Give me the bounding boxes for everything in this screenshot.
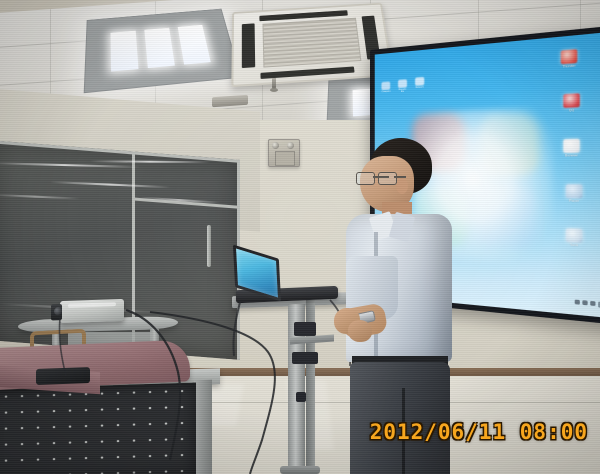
tray-icon[interactable]	[582, 300, 587, 305]
desktop-icon-tools[interactable]: Tools	[566, 228, 583, 248]
light-tube	[111, 31, 139, 72]
lectern-clamp	[292, 352, 318, 364]
desktop-icon-player[interactable]: Player	[566, 184, 583, 203]
speaker-body	[275, 151, 295, 166]
lectern-equipment	[294, 322, 316, 336]
desktop-icon-thunder[interactable]: Thunder	[561, 49, 578, 69]
dark-pouch	[36, 367, 90, 385]
wall-speaker	[268, 139, 300, 167]
tray-icon[interactable]	[575, 300, 580, 305]
desktop-icon-recycle-bin[interactable]: Recycle Bin	[398, 79, 407, 93]
glasses-icon	[356, 172, 400, 184]
sprinkler-head	[272, 78, 276, 89]
photograph: Computer Recycle Bin Network Thunder QQ	[0, 0, 600, 474]
ac-grille	[262, 17, 361, 67]
projector	[60, 299, 124, 323]
lectern-bracket	[296, 392, 306, 402]
light-tube	[144, 28, 175, 68]
desktop-icon-browser[interactable]: Browser	[563, 139, 580, 158]
lectern-foot	[280, 466, 320, 474]
table-side-edge	[194, 380, 212, 474]
desktop-icon-computer[interactable]: Computer	[381, 82, 390, 94]
light-tube	[177, 25, 210, 65]
perforated-panel	[0, 383, 196, 474]
camera-timestamp: 2012/06/11 08:00	[370, 420, 588, 444]
hand-right	[348, 320, 372, 342]
tray-icon[interactable]	[590, 301, 595, 306]
trousers	[350, 362, 450, 474]
taskbar-tray[interactable]	[575, 299, 600, 308]
desktop-icon-qq[interactable]: QQ	[563, 93, 580, 113]
door-handle[interactable]	[207, 225, 211, 267]
desktop-icon-network[interactable]: Network	[415, 77, 424, 89]
